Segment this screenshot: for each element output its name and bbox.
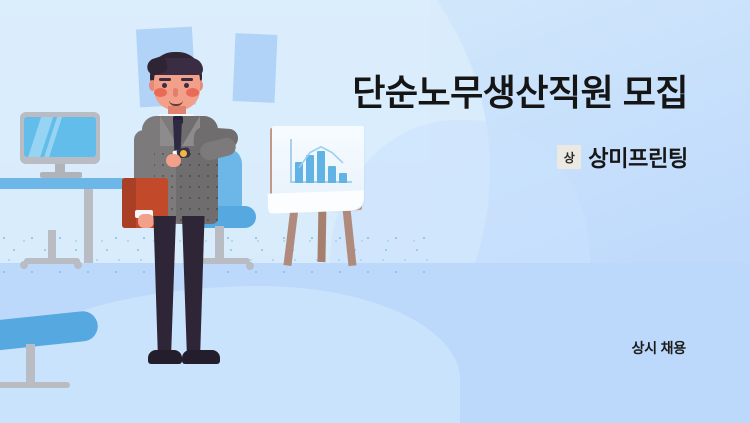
- trouser-leg: [182, 216, 206, 352]
- office-chair-base: [0, 382, 70, 388]
- job-posting-poster: 단순노무생산직원 모집 상 상미프린팅 상시 채용: [0, 0, 750, 423]
- desk-leg: [84, 189, 93, 263]
- chair-caster-icon: [74, 261, 82, 269]
- eyebrow: [181, 78, 193, 81]
- hiring-status-note: 상시 채용: [420, 338, 686, 358]
- page-title: 단순노무생산직원 모집: [284, 72, 688, 114]
- shoe: [148, 350, 182, 364]
- briefcase-shadow: [122, 178, 136, 228]
- chair-caster-icon: [20, 261, 28, 269]
- right-hand: [166, 154, 181, 167]
- watch-face: [180, 150, 187, 157]
- monitor-screen: [24, 117, 96, 157]
- businessman-illustration: [120, 50, 250, 370]
- eyebrow: [159, 78, 171, 81]
- company-name: 상미프린팅: [588, 141, 688, 173]
- eye: [162, 83, 167, 88]
- office-chair-post: [26, 344, 35, 384]
- trouser-leg: [152, 216, 176, 352]
- company-row: 상 상미프린팅: [420, 141, 688, 173]
- desk-surface: [0, 178, 136, 189]
- cheek-blush: [154, 88, 167, 97]
- bar-chart: [290, 139, 354, 187]
- cheek-blush: [186, 88, 199, 97]
- eye: [184, 83, 189, 88]
- shoe: [182, 350, 220, 364]
- chart-trend-line: [290, 139, 354, 187]
- office-chair-post: [48, 230, 56, 260]
- office-chair-base: [24, 258, 80, 264]
- nose: [173, 88, 178, 97]
- legs: [148, 216, 210, 356]
- easel-paper-curl: [268, 190, 365, 213]
- company-badge: 상: [557, 145, 581, 169]
